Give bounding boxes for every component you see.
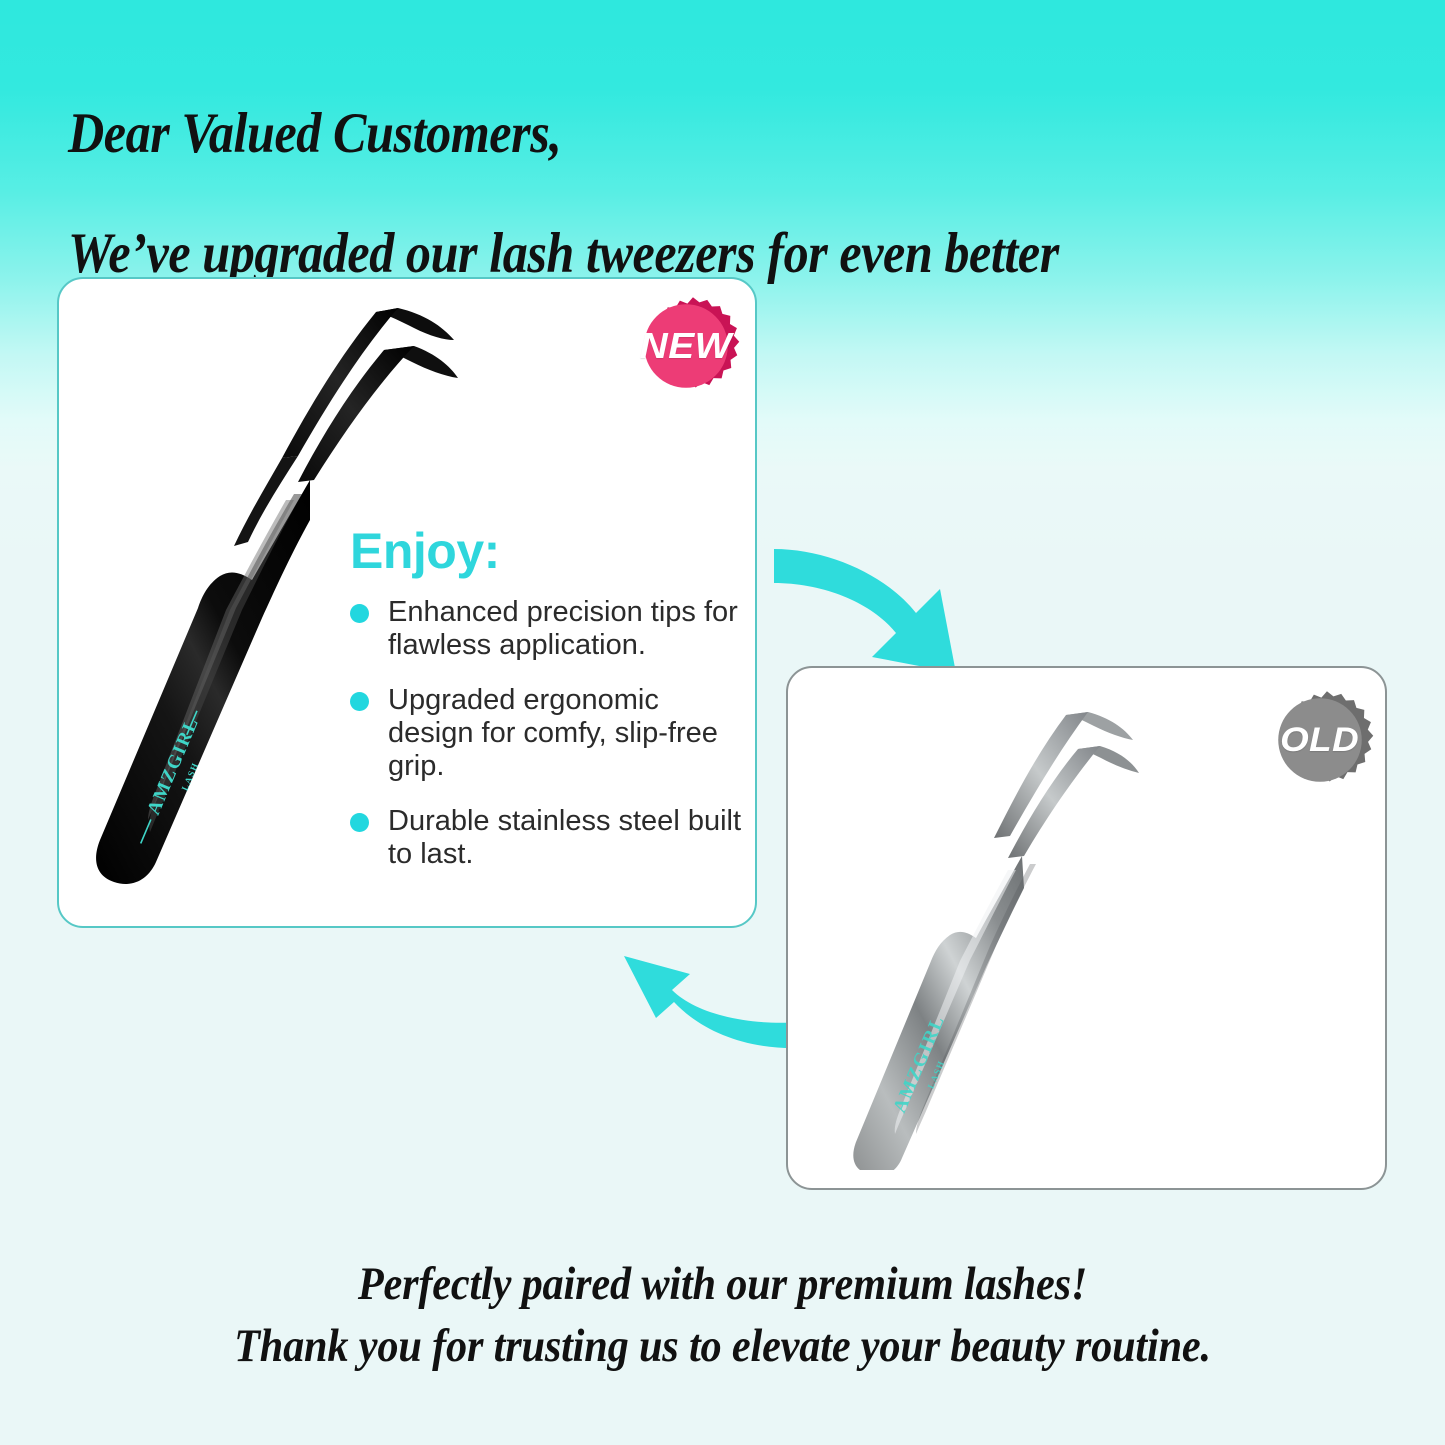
arrow-shape	[774, 549, 956, 673]
bullet-dot-icon	[350, 813, 369, 832]
benefit-text: Durable stainless steel built to last.	[388, 805, 741, 870]
arrow-shape	[624, 956, 801, 1048]
arrow-to-old-icon	[768, 527, 983, 687]
footer-line-1: Perfectly paired with our premium lashes…	[72, 1253, 1373, 1315]
new-badge: NEW	[628, 288, 744, 404]
benefits-list: Enhanced precision tips for flawless app…	[350, 596, 750, 871]
benefit-text: Enhanced precision tips for flawless app…	[388, 596, 738, 661]
old-badge-label: OLD	[1280, 721, 1359, 760]
headline-line-2: We’ve upgraded our lash tweezers for eve…	[68, 224, 1238, 284]
bullet-dot-icon	[350, 692, 369, 711]
enjoy-heading: Enjoy:	[350, 524, 750, 578]
poster-canvas: Dear Valued Customers, We’ve upgraded ou…	[0, 0, 1445, 1445]
list-item: Enhanced precision tips for flawless app…	[350, 596, 750, 662]
old-tweezer-image: AMZGIRL LASH	[830, 690, 1210, 1175]
arrow-to-new-icon	[598, 952, 813, 1067]
footer-message: Perfectly paired with our premium lashes…	[0, 1253, 1445, 1377]
bullet-dot-icon	[350, 604, 369, 623]
enjoy-section: Enjoy: Enhanced precision tips for flawl…	[350, 524, 750, 893]
headline-line-1: Dear Valued Customers,	[68, 104, 1238, 164]
footer-line-2: Thank you for trusting us to elevate you…	[72, 1315, 1373, 1377]
list-item: Durable stainless steel built to last.	[350, 805, 750, 871]
old-badge: OLD	[1262, 682, 1378, 798]
list-item: Upgraded ergonomic design for comfy, sli…	[350, 684, 750, 783]
new-badge-label: NEW	[640, 325, 732, 367]
benefit-text: Upgraded ergonomic design for comfy, sli…	[388, 684, 718, 782]
